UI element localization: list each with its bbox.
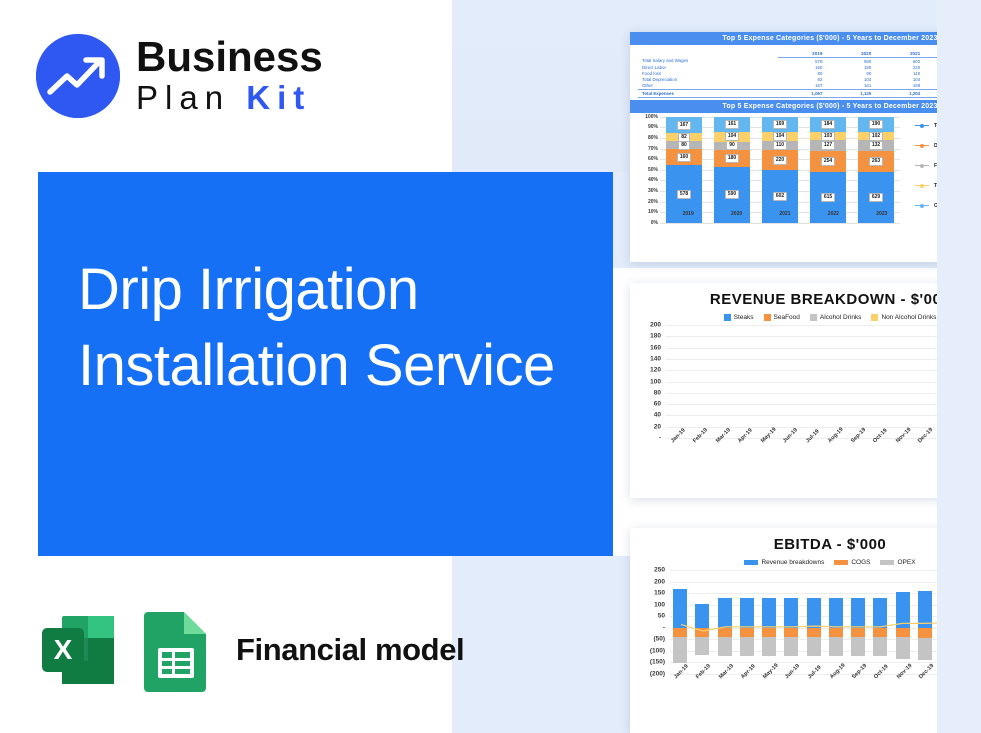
cell: 578 <box>778 58 827 65</box>
bar-segment: 90 <box>714 142 750 150</box>
bar-column: 615254127103184 <box>810 117 846 223</box>
x-tick: 2022 <box>828 211 839 223</box>
x-tick: 2023 <box>876 211 887 223</box>
revenue-bars <box>666 325 981 438</box>
expense-chart-banner: Top 5 Expense Categories ($'000) - 5 Yea… <box>630 100 981 113</box>
bar-value-label: 161 <box>725 120 739 129</box>
bar-segment: 104 <box>762 132 798 141</box>
legend-label: Non Alcohol Drinks <box>881 314 936 321</box>
bar-value-label: 90 <box>726 141 738 150</box>
legend-item: OPEX <box>880 559 915 566</box>
ebitda-plot-area: 25020015010050-(50)(100)(150)(200) Jan-1… <box>636 570 981 698</box>
expense-plot-area: 0%10%20%30%40%50%60%70%80%90%100% 578160… <box>634 117 902 223</box>
legend-marker <box>915 205 929 206</box>
col-header-0 <box>638 50 778 58</box>
bar-value-label: 629 <box>869 193 883 202</box>
bar-segment: 167 <box>666 117 702 134</box>
bar-segment: 190 <box>858 117 894 132</box>
bar-segment: 102 <box>858 132 894 140</box>
legend-label: Steaks <box>734 314 754 321</box>
ebitda-card: EBITDA - $'000 Revenue breakdownsCOGSOPE… <box>630 528 981 733</box>
bar-value-label: 169 <box>773 120 787 129</box>
bar-value-label: 180 <box>725 154 739 163</box>
legend-item: Revenue breakdowns <box>744 559 824 566</box>
col-header-2021: 2021 <box>875 50 924 58</box>
legend-marker <box>915 165 929 166</box>
bar-column: 629263132102190 <box>858 117 894 223</box>
legend-item: COGS <box>834 559 870 566</box>
row-label: Other <box>638 83 778 90</box>
bar-segment: 127 <box>810 140 846 150</box>
background-right-strip <box>937 0 981 733</box>
table-row: Other167161169184190 <box>638 83 981 90</box>
ebitda-inner <box>670 570 981 674</box>
legend-label: SeaFood <box>774 314 800 321</box>
bar-value-label: 167 <box>677 121 691 130</box>
brand-logo: Business Plan Kit <box>36 34 323 118</box>
legend-marker <box>915 185 929 186</box>
legend-swatch <box>810 314 817 321</box>
gridline <box>660 223 900 224</box>
growth-arrow-circle-icon <box>36 34 120 118</box>
bar-value-label: 602 <box>773 192 787 201</box>
microsoft-excel-icon: X <box>36 608 120 692</box>
bar-value-label: 80 <box>678 141 690 150</box>
legend-swatch <box>744 560 758 565</box>
table-row: Total Salary and Wages578590602615629 <box>638 58 981 65</box>
bar-segment: 263 <box>858 151 894 172</box>
legend-item: Alcohol Drinks <box>810 314 862 321</box>
cell: 169 <box>875 83 924 90</box>
bar-segment: 80 <box>666 141 702 149</box>
expense-x-axis: 20192020202120222023 <box>664 211 906 223</box>
bar-column: 5781608082167 <box>666 117 702 223</box>
bar-column: 602220110104169 <box>762 117 798 223</box>
bar-value-label: 102 <box>869 132 883 141</box>
page-title: Drip Irrigation Installation Service <box>78 252 598 404</box>
bar-segment: 82 <box>666 133 702 141</box>
bar-value-label: 190 <box>869 120 883 129</box>
x-tick: 2021 <box>779 211 790 223</box>
bar-value-label: 127 <box>821 141 835 150</box>
brand-kit-text: Kit <box>246 79 311 116</box>
legend-label: Revenue breakdowns <box>761 559 824 566</box>
bar-value-label: 184 <box>821 120 835 129</box>
ebitda-trend-line <box>670 570 981 674</box>
row-label: Total Expenses <box>638 89 778 97</box>
cell: 1,067 <box>778 89 827 97</box>
bar-column: 59018090104161 <box>714 117 750 223</box>
ebitda-chart-title: EBITDA - $'000 <box>630 536 981 553</box>
legend-swatch <box>834 560 848 565</box>
svg-text:X: X <box>54 634 73 665</box>
bar-segment: 161 <box>714 117 750 132</box>
bar-segment: 132 <box>858 140 894 151</box>
cell: 590 <box>826 58 875 65</box>
hero-banner: Drip Irrigation Installation Service <box>38 172 613 556</box>
bar-segment: 180 <box>714 150 750 167</box>
bar-segment: 160 <box>666 149 702 165</box>
bar-value-label: 103 <box>821 132 835 141</box>
bar-segment: 220 <box>762 150 798 169</box>
legend-item: Steaks <box>724 314 754 321</box>
bar-segment: 254 <box>810 151 846 172</box>
bar-value-label: 590 <box>725 190 739 199</box>
brand-wordmark: Business Plan Kit <box>136 35 323 117</box>
expense-categories-card: Top 5 Expense Categories ($'000) - 5 Yea… <box>630 32 981 262</box>
revenue-breakdown-card: REVENUE BREAKDOWN - $'000 SteaksSeaFoodA… <box>630 283 981 498</box>
format-badges: X Financial model <box>36 608 464 692</box>
bar-segment: 103 <box>810 132 846 141</box>
cell: 1,125 <box>826 89 875 97</box>
row-label: Total Salary and Wages <box>638 58 778 65</box>
expense-bars: 5781608082167590180901041616022201101041… <box>660 117 900 223</box>
financial-model-label: Financial model <box>236 632 464 668</box>
bar-segment: 184 <box>810 117 846 132</box>
cell: 602 <box>875 58 924 65</box>
revenue-plot-area: -20406080100120140160180200 Jan-19Feb-19… <box>636 325 981 460</box>
google-sheets-icon <box>142 608 210 692</box>
brand-plan-text: Plan <box>136 79 230 116</box>
legend-swatch <box>764 314 771 321</box>
brand-line-business: Business <box>136 35 323 79</box>
cell: 167 <box>778 83 827 90</box>
revenue-x-axis: Jan-19Feb-19Mar-19Apr-19May-19Jun-19Jul-… <box>666 438 981 460</box>
expense-table-banner: Top 5 Expense Categories ($'000) - 5 Yea… <box>630 32 981 45</box>
col-header-2020: 2020 <box>826 50 875 58</box>
legend-label: COGS <box>851 559 870 566</box>
bar-value-label: 104 <box>773 132 787 141</box>
legend-swatch <box>880 560 894 565</box>
legend-label: Alcohol Drinks <box>820 314 862 321</box>
bar-value-label: 82 <box>678 133 690 142</box>
expense-table: 2019 2020 2021 2022 2023 Total Salary an… <box>630 45 981 100</box>
x-tick: 2019 <box>683 211 694 223</box>
slide-root: Business Plan Kit Drip Irrigation Instal… <box>0 0 981 733</box>
bar-value-label: 263 <box>869 157 883 166</box>
expense-stacked-chart: 0%10%20%30%40%50%60%70%80%90%100% 578160… <box>630 115 981 237</box>
bar-value-label: 160 <box>677 153 691 162</box>
legend-marker <box>915 125 929 126</box>
brand-line-plankit: Plan Kit <box>136 79 323 117</box>
legend-marker <box>915 145 929 146</box>
legend-swatch <box>724 314 731 321</box>
legend-swatch <box>871 314 878 321</box>
bar-value-label: 220 <box>773 156 787 165</box>
bar-segment: 169 <box>762 117 798 132</box>
legend-label: OPEX <box>897 559 915 566</box>
legend-item: Non Alcohol Drinks <box>871 314 936 321</box>
table-header-row: 2019 2020 2021 2022 2023 <box>638 50 981 58</box>
bar-value-label: 615 <box>821 193 835 202</box>
x-tick: 2020 <box>731 211 742 223</box>
bar-value-label: 254 <box>821 157 835 166</box>
bar-segment: 110 <box>762 141 798 151</box>
bar-segment: 104 <box>714 132 750 142</box>
cell: 1,204 <box>875 89 924 97</box>
revenue-chart-title: REVENUE BREAKDOWN - $'000 <box>630 291 981 308</box>
table-total-row: Total Expenses1,0671,1251,2041,2841,316 <box>638 89 981 97</box>
bar-value-label: 132 <box>869 141 883 150</box>
bar-value-label: 110 <box>773 141 787 150</box>
col-header-2019: 2019 <box>778 50 827 58</box>
cell: 161 <box>826 83 875 90</box>
ebitda-x-axis: Jan-19Feb-19Mar-19Apr-19May-19Jun-19Jul-… <box>670 674 981 698</box>
ebitda-legend: Revenue breakdownsCOGSOPEX <box>630 559 981 566</box>
revenue-legend: SteaksSeaFoodAlcohol DrinksNon Alcohol D… <box>630 314 981 321</box>
legend-item: SeaFood <box>764 314 800 321</box>
bar-value-label: 578 <box>677 190 691 199</box>
bar-value-label: 104 <box>725 132 739 141</box>
